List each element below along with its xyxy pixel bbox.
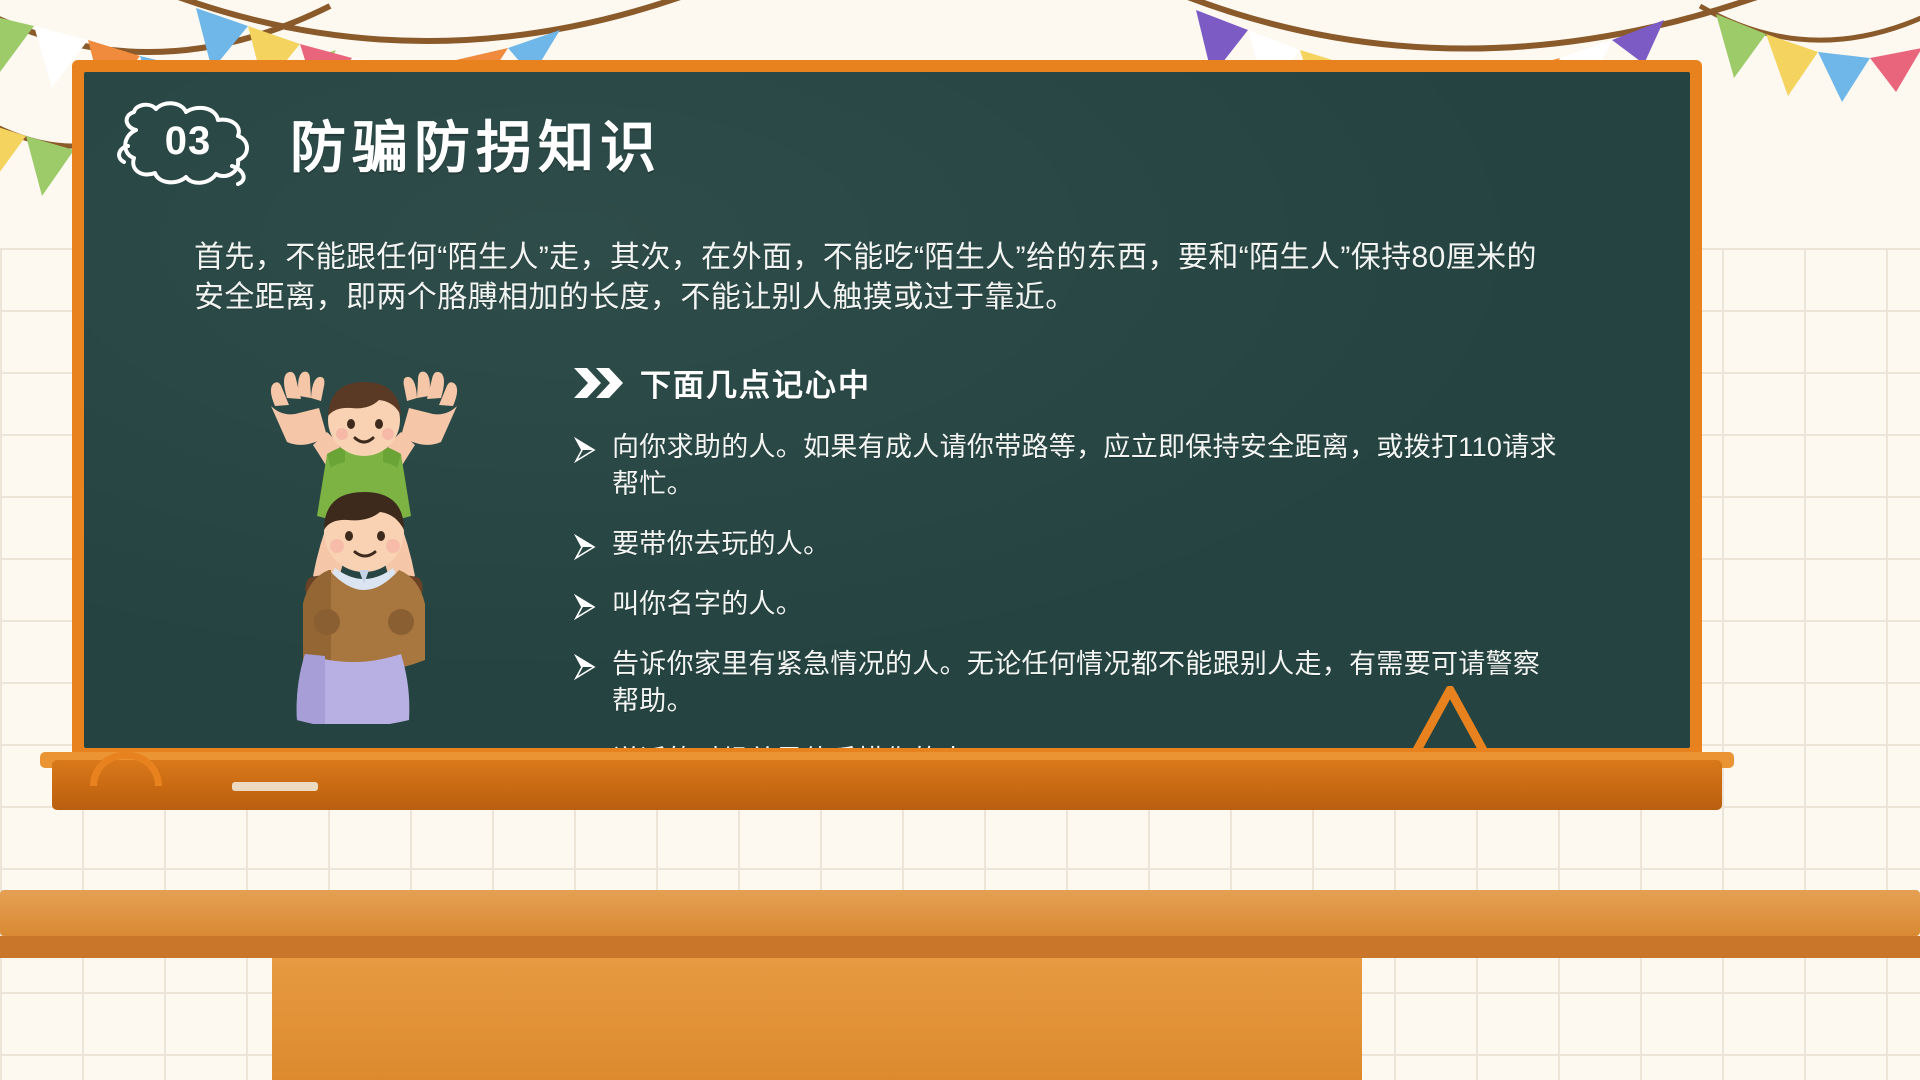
section-number-badge: 03: [112, 100, 264, 186]
list-item: 要带你去玩的人。: [574, 526, 1559, 564]
list-item-text: 要带你去玩的人。: [612, 526, 830, 563]
desk-top: [0, 890, 1920, 936]
desk-leg: [272, 958, 1362, 1080]
list-item: 叫你名字的人。: [574, 586, 1559, 624]
blackboard-frame: 03 防骗防拐知识 首先，不能跟任何“陌生人”走，其次，在外面，不能吃“陌生人”…: [72, 60, 1702, 760]
arrowhead-bullet-icon: [574, 746, 596, 748]
list-item-text: 说话的时候总是伸手摸你的人。: [612, 742, 994, 748]
arrowhead-bullet-icon: [574, 590, 596, 624]
arrowhead-bullet-icon: [574, 530, 596, 564]
intro-paragraph: 首先，不能跟任何“陌生人”走，其次，在外面，不能吃“陌生人”给的东西，要和“陌生…: [194, 238, 1564, 317]
double-chevron-right-icon: [574, 367, 626, 399]
list-item-text: 向你求助的人。如果有成人请你带路等，应立即保持安全距离，或拨打110请求帮忙。: [612, 429, 1559, 504]
father-carrying-child-illustration: [209, 354, 519, 724]
arrowhead-bullet-icon: [574, 650, 596, 684]
slide-title-row: 03 防骗防拐知识: [112, 100, 662, 186]
chalk-stick-icon: [232, 782, 318, 791]
list-item: 向你求助的人。如果有成人请你带路等，应立即保持安全距离，或拨打110请求帮忙。: [574, 429, 1559, 504]
blackboard: 03 防骗防拐知识 首先，不能跟任何“陌生人”走，其次，在外面，不能吃“陌生人”…: [84, 72, 1690, 748]
subheading-row: 下面几点记心中: [574, 360, 1559, 405]
arrowhead-bullet-icon: [574, 433, 596, 467]
subheading-text: 下面几点记心中: [640, 360, 871, 405]
section-number-text: 03: [112, 100, 264, 186]
page-title: 防骗防拐知识: [290, 103, 662, 184]
list-item-text: 叫你名字的人。: [612, 586, 803, 623]
desk-front-edge: [0, 936, 1920, 958]
